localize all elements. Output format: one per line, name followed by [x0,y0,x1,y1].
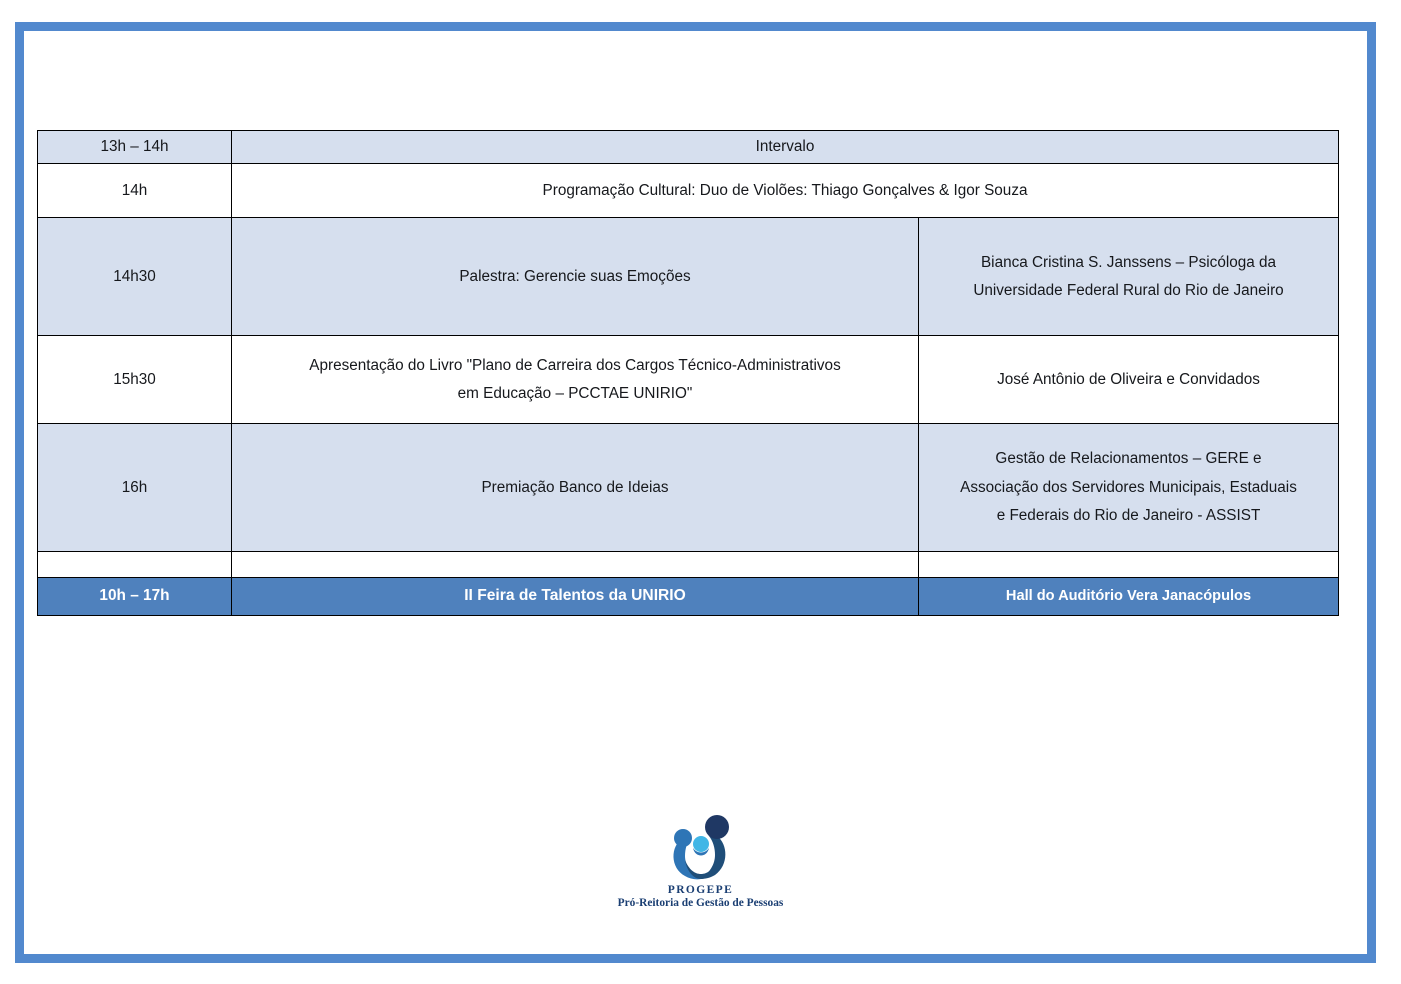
progepe-people-circle-icon [663,812,739,882]
row-location-cell: Hall do Auditório Vera Janacópulos [919,578,1339,616]
table-row: 15h30 Apresentação do Livro "Plano de Ca… [38,336,1339,424]
row-time-cell: 10h – 17h [38,578,232,616]
row-speaker-cell: Gestão de Relacionamentos – GERE e Assoc… [919,424,1339,552]
activity-line-1: Apresentação do Livro "Plano de Carreira… [242,352,908,380]
row-time-cell: 16h [38,424,232,552]
row-activity-cell: Apresentação do Livro "Plano de Carreira… [232,336,919,424]
row-activity-cell: Palestra: Gerencie suas Emoções [232,218,919,336]
progepe-logo: PROGEPE Pró-Reitoria de Gestão de Pessoa… [0,812,1401,909]
row-time-cell: 13h – 14h [38,131,232,164]
row-time-cell: 14h [38,164,232,218]
activity-line-2: em Educação – PCCTAE UNIRIO" [242,380,908,408]
speaker-line-2: Universidade Federal Rural do Rio de Jan… [929,277,1328,305]
logo-name-text: PROGEPE [0,884,1401,896]
table-row: 14h30 Palestra: Gerencie suas Emoções Bi… [38,218,1339,336]
row-activity-cell: II Feira de Talentos da UNIRIO [232,578,919,616]
speaker-line-1: Bianca Cristina S. Janssens – Psicóloga … [929,249,1328,277]
logo-tagline-text: Pró-Reitoria de Gestão de Pessoas [0,897,1401,909]
speaker-line-1: Gestão de Relacionamentos – GERE e [929,445,1328,473]
row-time-cell [38,552,232,578]
speaker-line-2: Associação dos Servidores Municipais, Es… [929,474,1328,502]
table-row-highlighted: 10h – 17h II Feira de Talentos da UNIRIO… [38,578,1339,616]
row-time-cell: 14h30 [38,218,232,336]
document-page: 13h – 14h Intervalo 14h Programação Cult… [0,0,1401,984]
table-row-empty [38,552,1339,578]
event-schedule-table: 13h – 14h Intervalo 14h Programação Cult… [37,130,1339,616]
row-activity-cell [232,552,919,578]
row-activity-cell: Premiação Banco de Ideias [232,424,919,552]
row-activity-cell: Programação Cultural: Duo de Violões: Th… [232,164,1339,218]
schedule-table-container: 13h – 14h Intervalo 14h Programação Cult… [37,130,1338,616]
row-speaker-cell [919,552,1339,578]
row-speaker-cell: Bianca Cristina S. Janssens – Psicóloga … [919,218,1339,336]
row-speaker-cell: José Antônio de Oliveira e Convidados [919,336,1339,424]
row-time-cell: 15h30 [38,336,232,424]
table-row: 13h – 14h Intervalo [38,131,1339,164]
table-row: 16h Premiação Banco de Ideias Gestão de … [38,424,1339,552]
speaker-line-3: e Federais do Rio de Janeiro - ASSIST [929,502,1328,530]
row-activity-cell: Intervalo [232,131,1339,164]
table-row: 14h Programação Cultural: Duo de Violões… [38,164,1339,218]
